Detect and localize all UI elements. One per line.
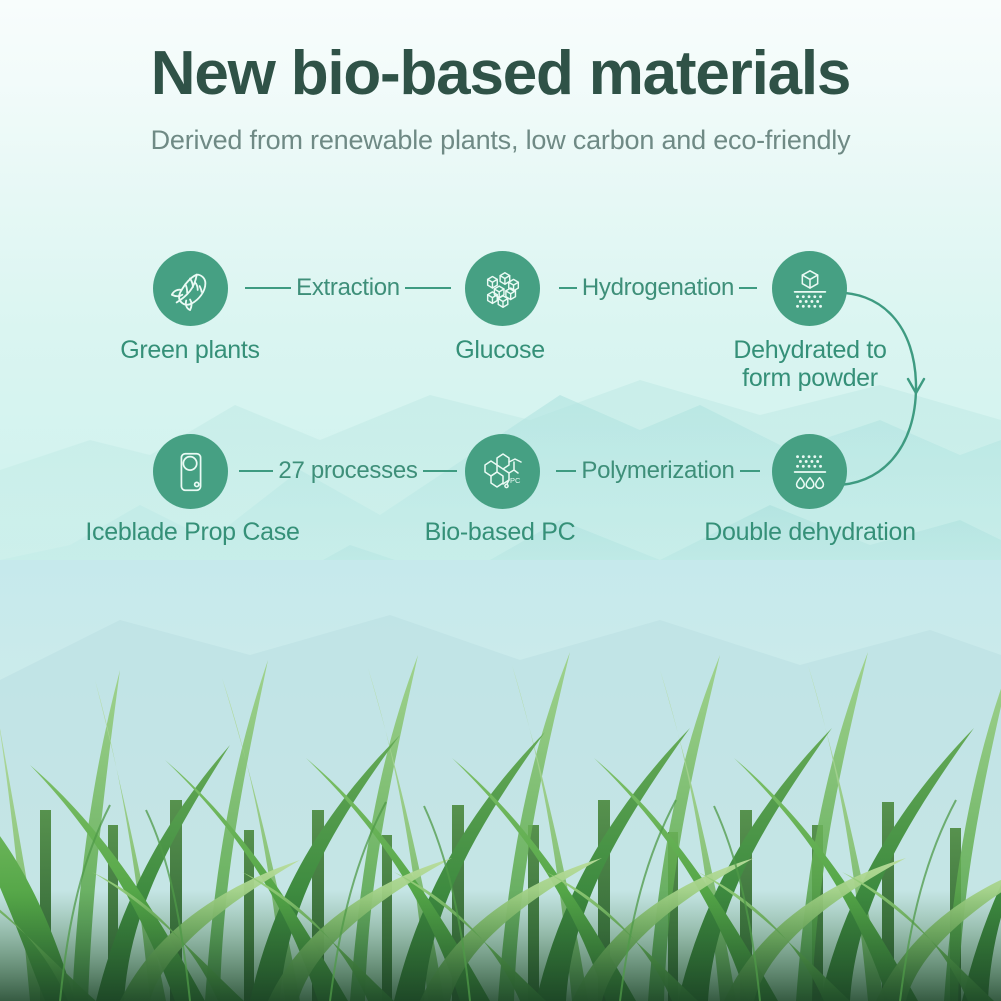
dehydrated-powder-label: Dehydrated to form powder xyxy=(700,336,920,392)
sugar-cubes-icon xyxy=(480,266,526,312)
connector-extraction-label: Extraction xyxy=(291,274,405,302)
connector-line-right xyxy=(739,287,757,289)
dehydrated-powder-label-line2: form powder xyxy=(700,364,920,392)
glucose-node-circle[interactable] xyxy=(465,251,540,326)
bio-based-pc-label: Bio-based PC xyxy=(395,518,605,547)
green-plants-node-circle[interactable] xyxy=(153,251,228,326)
double-dehydration-node-circle[interactable] xyxy=(772,434,847,509)
process-flow-diagram: Green plants Extraction xyxy=(0,0,1001,1001)
corn-icon xyxy=(168,266,214,312)
connector-line-right xyxy=(740,470,760,472)
glucose-label: Glucose xyxy=(400,336,600,365)
double-dehydration-label: Double dehydration xyxy=(685,518,935,547)
iceblade-prop-case-node-circle[interactable] xyxy=(153,434,228,509)
dehydrated-powder-label-line1: Dehydrated to xyxy=(700,336,920,364)
connector-line-left xyxy=(556,470,576,472)
connector-polymerization-label: Polymerization xyxy=(576,457,739,485)
connector-27-processes: 27 processes xyxy=(232,460,464,482)
connector-line-left xyxy=(245,287,291,289)
phone-case-icon xyxy=(168,449,214,495)
connector-line-right xyxy=(405,287,451,289)
connector-polymerization: Polymerization xyxy=(544,460,772,482)
green-plants-label: Green plants xyxy=(90,336,290,365)
connector-extraction: Extraction xyxy=(232,277,464,299)
iceblade-prop-case-label: Iceblade Prop Case xyxy=(70,518,315,547)
cube-powder-icon xyxy=(787,266,833,312)
connector-27-processes-label: 27 processes xyxy=(273,457,422,485)
molecule-pc-icon-text: PC xyxy=(510,476,521,485)
dehydrated-powder-node-circle[interactable] xyxy=(772,251,847,326)
connector-line-right xyxy=(423,470,457,472)
molecule-pc-icon: PC xyxy=(479,448,527,496)
connector-line-left xyxy=(239,470,273,472)
bio-based-pc-node-circle[interactable]: PC xyxy=(465,434,540,509)
connector-hydrogenation: Hydrogenation xyxy=(544,277,772,299)
powder-droplets-icon xyxy=(787,449,833,495)
infographic-page: New bio-based materials Derived from ren… xyxy=(0,0,1001,1001)
connector-hydrogenation-label: Hydrogenation xyxy=(577,274,739,302)
connector-line-left xyxy=(559,287,577,289)
